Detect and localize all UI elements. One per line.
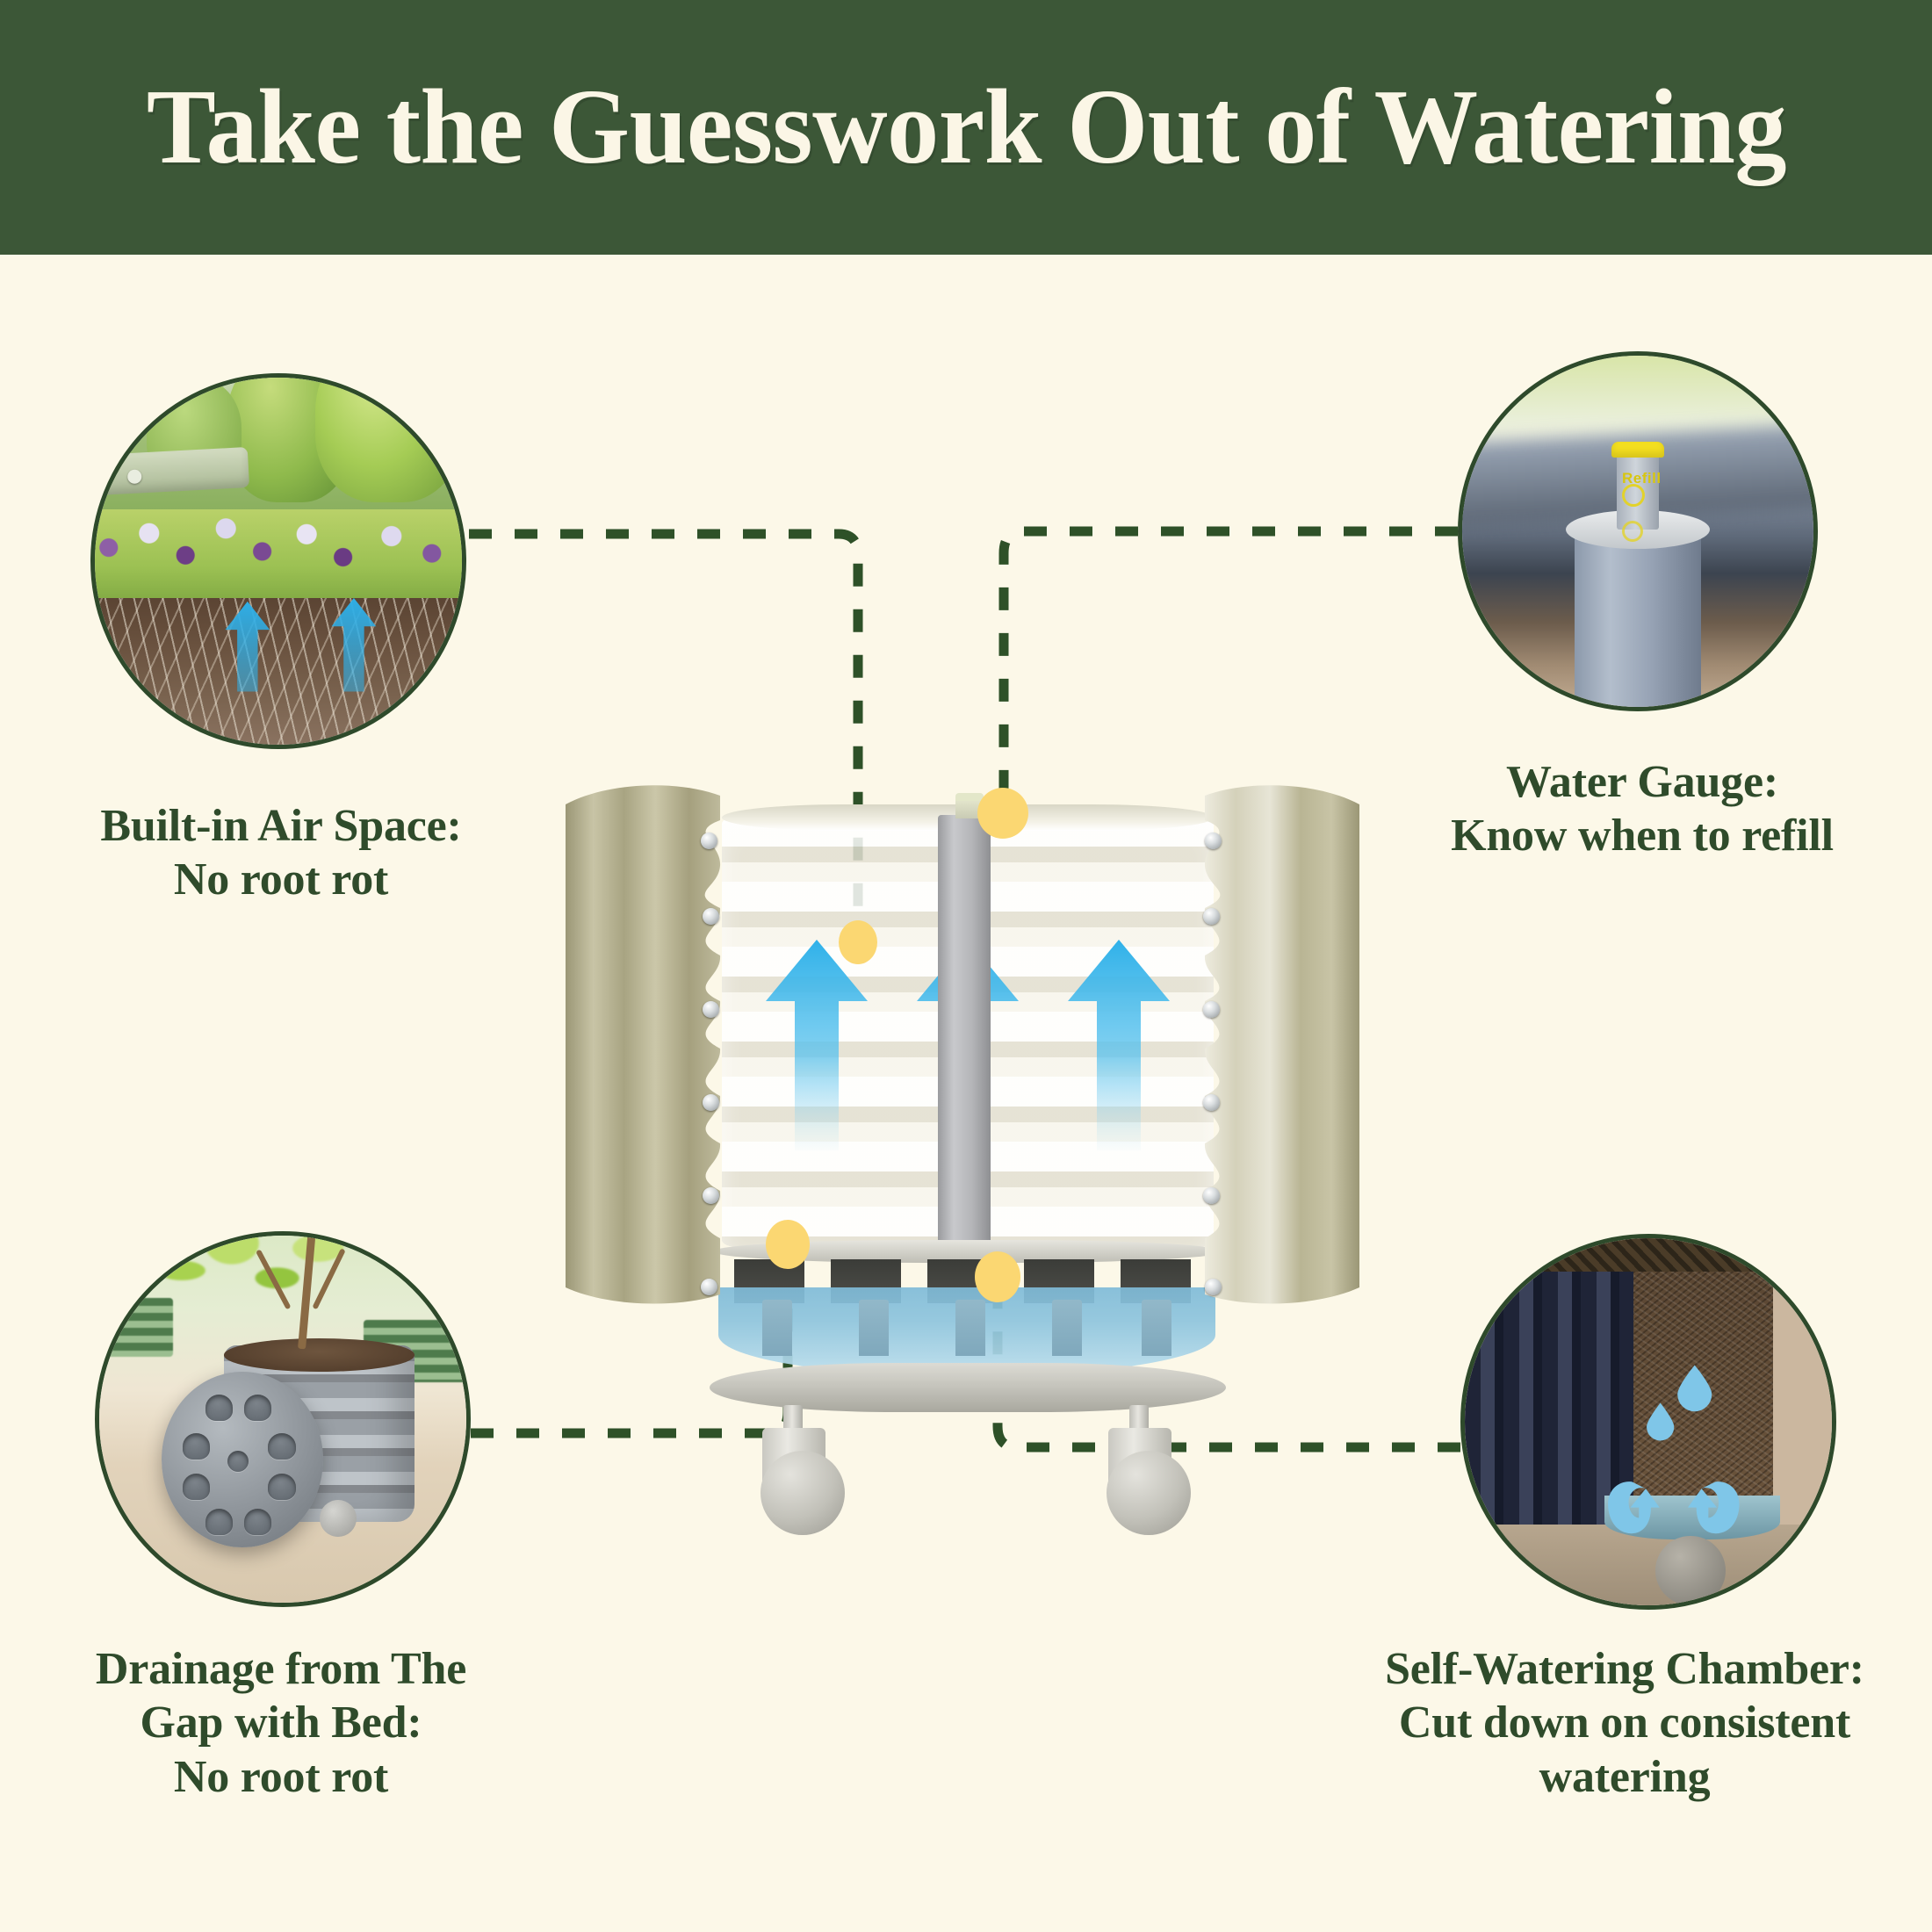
page-title: Take the Guesswork Out of Watering	[146, 66, 1785, 189]
air-space-photo	[90, 373, 466, 749]
caption-water-gauge: Water Gauge: Know when to refill	[1396, 755, 1888, 863]
caption-built-in-air-space: Built-in Air Space: No root rot	[35, 799, 527, 907]
connector-water-gauge	[1004, 531, 1458, 790]
air-flow-arrows	[95, 378, 462, 745]
header-bar: Take the Guesswork Out of Watering	[0, 0, 1932, 255]
marker-dot-air-space	[839, 920, 877, 964]
water-drop-arrows	[1465, 1238, 1832, 1605]
marker-dot-self-watering	[975, 1251, 1020, 1302]
caption-drainage: Drainage from The Gap with Bed: No root …	[35, 1642, 527, 1804]
drainage-plate-photo	[95, 1231, 471, 1607]
water-gauge-tube	[938, 815, 991, 1254]
product-cutaway	[562, 790, 1370, 1493]
marker-dot-drainage	[766, 1220, 810, 1269]
infographic-page: Take the Guesswork Out of Watering	[0, 0, 1932, 1932]
corrugated-wall-right	[1177, 775, 1379, 1337]
water-gauge-photo: Refill	[1458, 351, 1818, 711]
self-watering-chamber-photo	[1460, 1234, 1836, 1610]
marker-dot-water-gauge	[977, 788, 1028, 839]
caption-self-watering-chamber: Self-Watering Chamber: Cut down on consi…	[1352, 1642, 1897, 1804]
corrugated-wall-left	[546, 775, 748, 1337]
water-gauge-tube-top	[955, 793, 984, 801]
